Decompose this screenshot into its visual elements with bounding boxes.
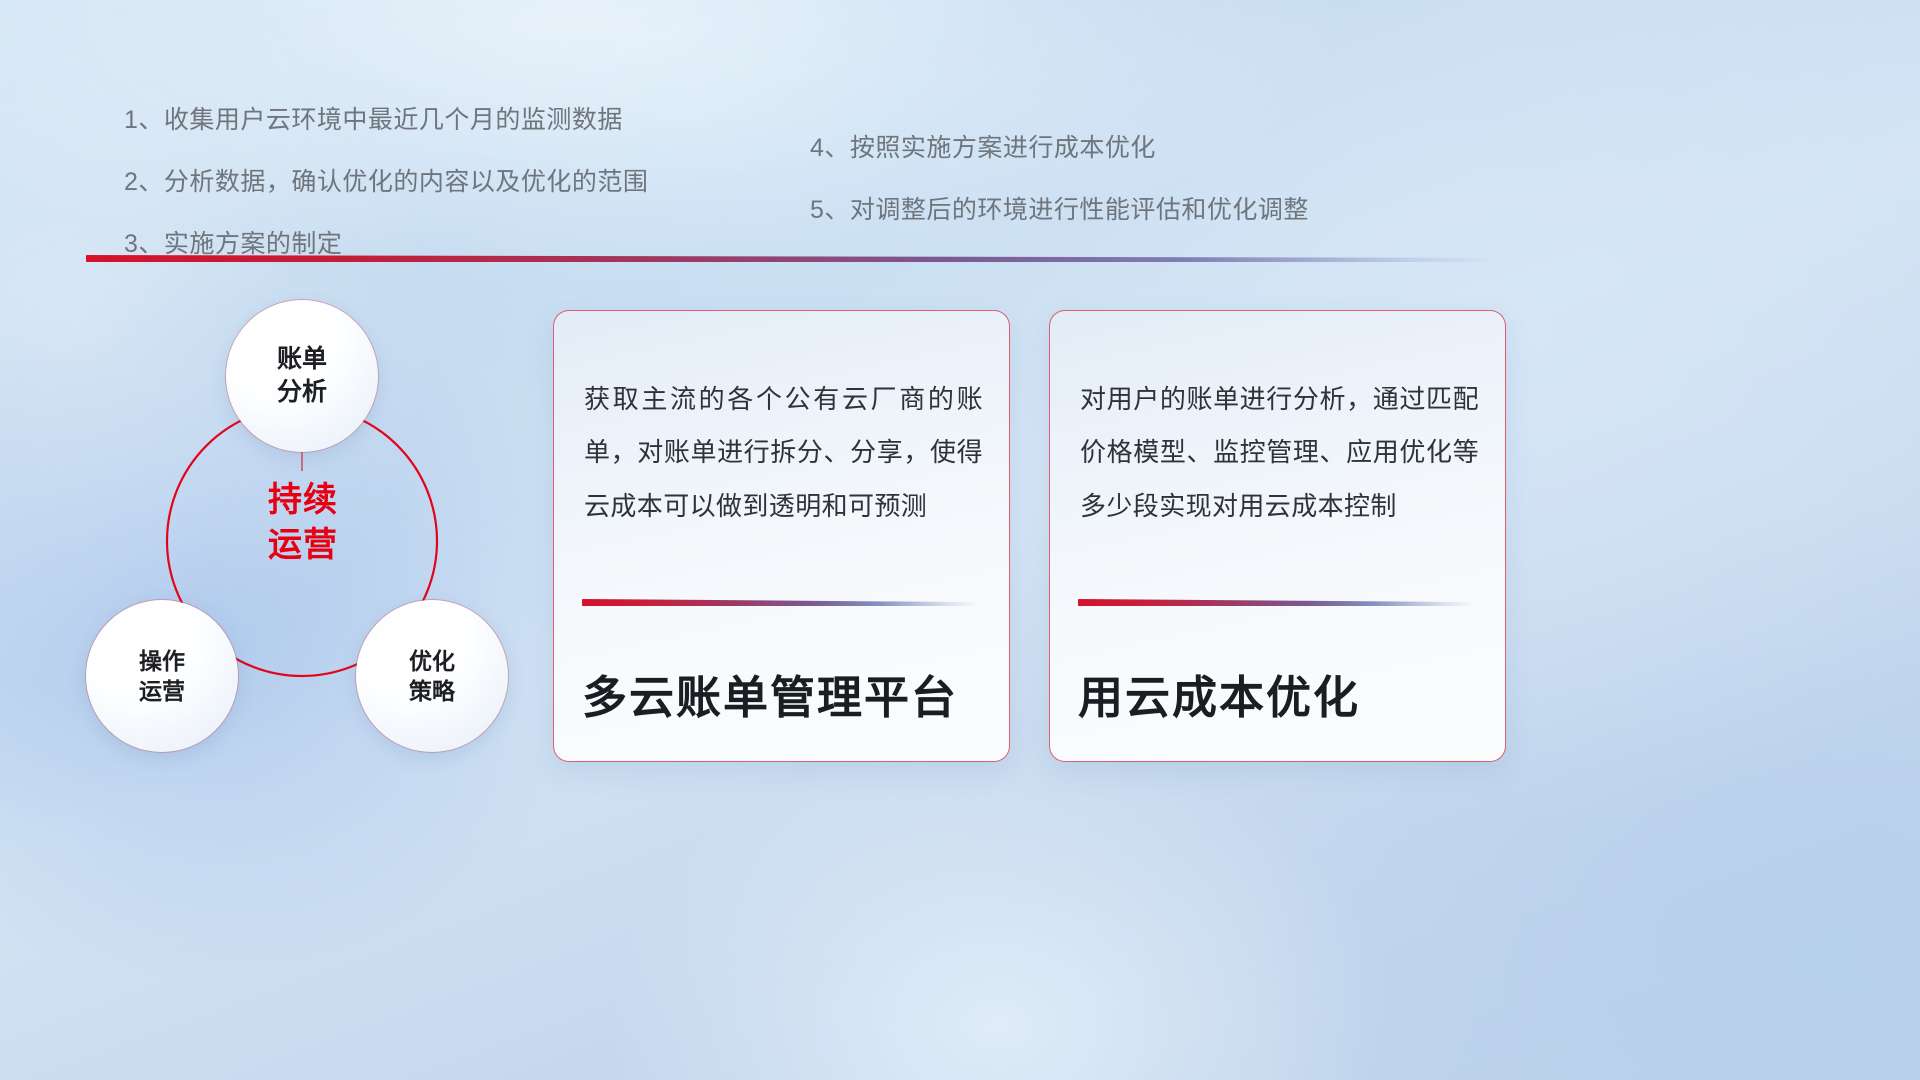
card-title: 多云账单管理平台: [582, 661, 985, 726]
card-divider-rule: [1078, 599, 1476, 606]
feature-card-multicloud-billing[interactable]: 获取主流的各个公有云厂商的账单，对账单进行拆分、分享，使得云成本可以做到透明和可…: [553, 310, 1010, 762]
bubble-label-line-2: 分析: [277, 376, 327, 409]
bubble-label-line-2: 策略: [409, 676, 455, 706]
bubble-label-line-2: 运营: [139, 676, 185, 706]
step-item-1: 1、收集用户云环境中最近几个月的监测数据: [124, 100, 648, 136]
steps-left-column: 1、收集用户云环境中最近几个月的监测数据 2、分析数据，确认优化的内容以及优化的…: [124, 100, 648, 260]
card-body-text: 对用户的账单进行分析，通过匹配价格模型、监控管理、应用优化等多少段实现对用云成本…: [1080, 373, 1479, 533]
step-item-3: 3、实施方案的制定: [124, 224, 648, 260]
bubble-label-line-1: 优化: [409, 646, 455, 676]
slide-canvas: 1、收集用户云环境中最近几个月的监测数据 2、分析数据，确认优化的内容以及优化的…: [0, 0, 1920, 1080]
header-divider-rule: [86, 255, 1498, 262]
card-divider-rule: [582, 599, 980, 606]
bubble-operations[interactable]: 操作 运营: [86, 600, 238, 752]
step-item-4: 4、按照实施方案进行成本优化: [810, 128, 1309, 164]
bubble-label-line-1: 操作: [139, 646, 185, 676]
steps-right-column: 4、按照实施方案进行成本优化 5、对调整后的环境进行性能评估和优化调整: [810, 128, 1309, 226]
continuous-operation-diagram: 持续 运营 账单 分析 操作 运营 优化 策略: [78, 288, 548, 768]
card-body-text: 获取主流的各个公有云厂商的账单，对账单进行拆分、分享，使得云成本可以做到透明和可…: [584, 373, 983, 533]
feature-card-cloud-cost-optimization[interactable]: 对用户的账单进行分析，通过匹配价格模型、监控管理、应用优化等多少段实现对用云成本…: [1049, 310, 1506, 762]
card-title: 用云成本优化: [1078, 661, 1481, 726]
center-label-line-1: 持续: [218, 478, 388, 523]
step-item-2: 2、分析数据，确认优化的内容以及优化的范围: [124, 162, 648, 198]
step-item-5: 5、对调整后的环境进行性能评估和优化调整: [810, 190, 1309, 226]
bubble-bill-analysis[interactable]: 账单 分析: [226, 300, 378, 452]
center-label-line-2: 运营: [218, 523, 388, 568]
diagram-center-label: 持续 运营: [218, 478, 388, 568]
bubble-label-line-1: 账单: [277, 343, 327, 376]
bubble-optimization-strategy[interactable]: 优化 策略: [356, 600, 508, 752]
